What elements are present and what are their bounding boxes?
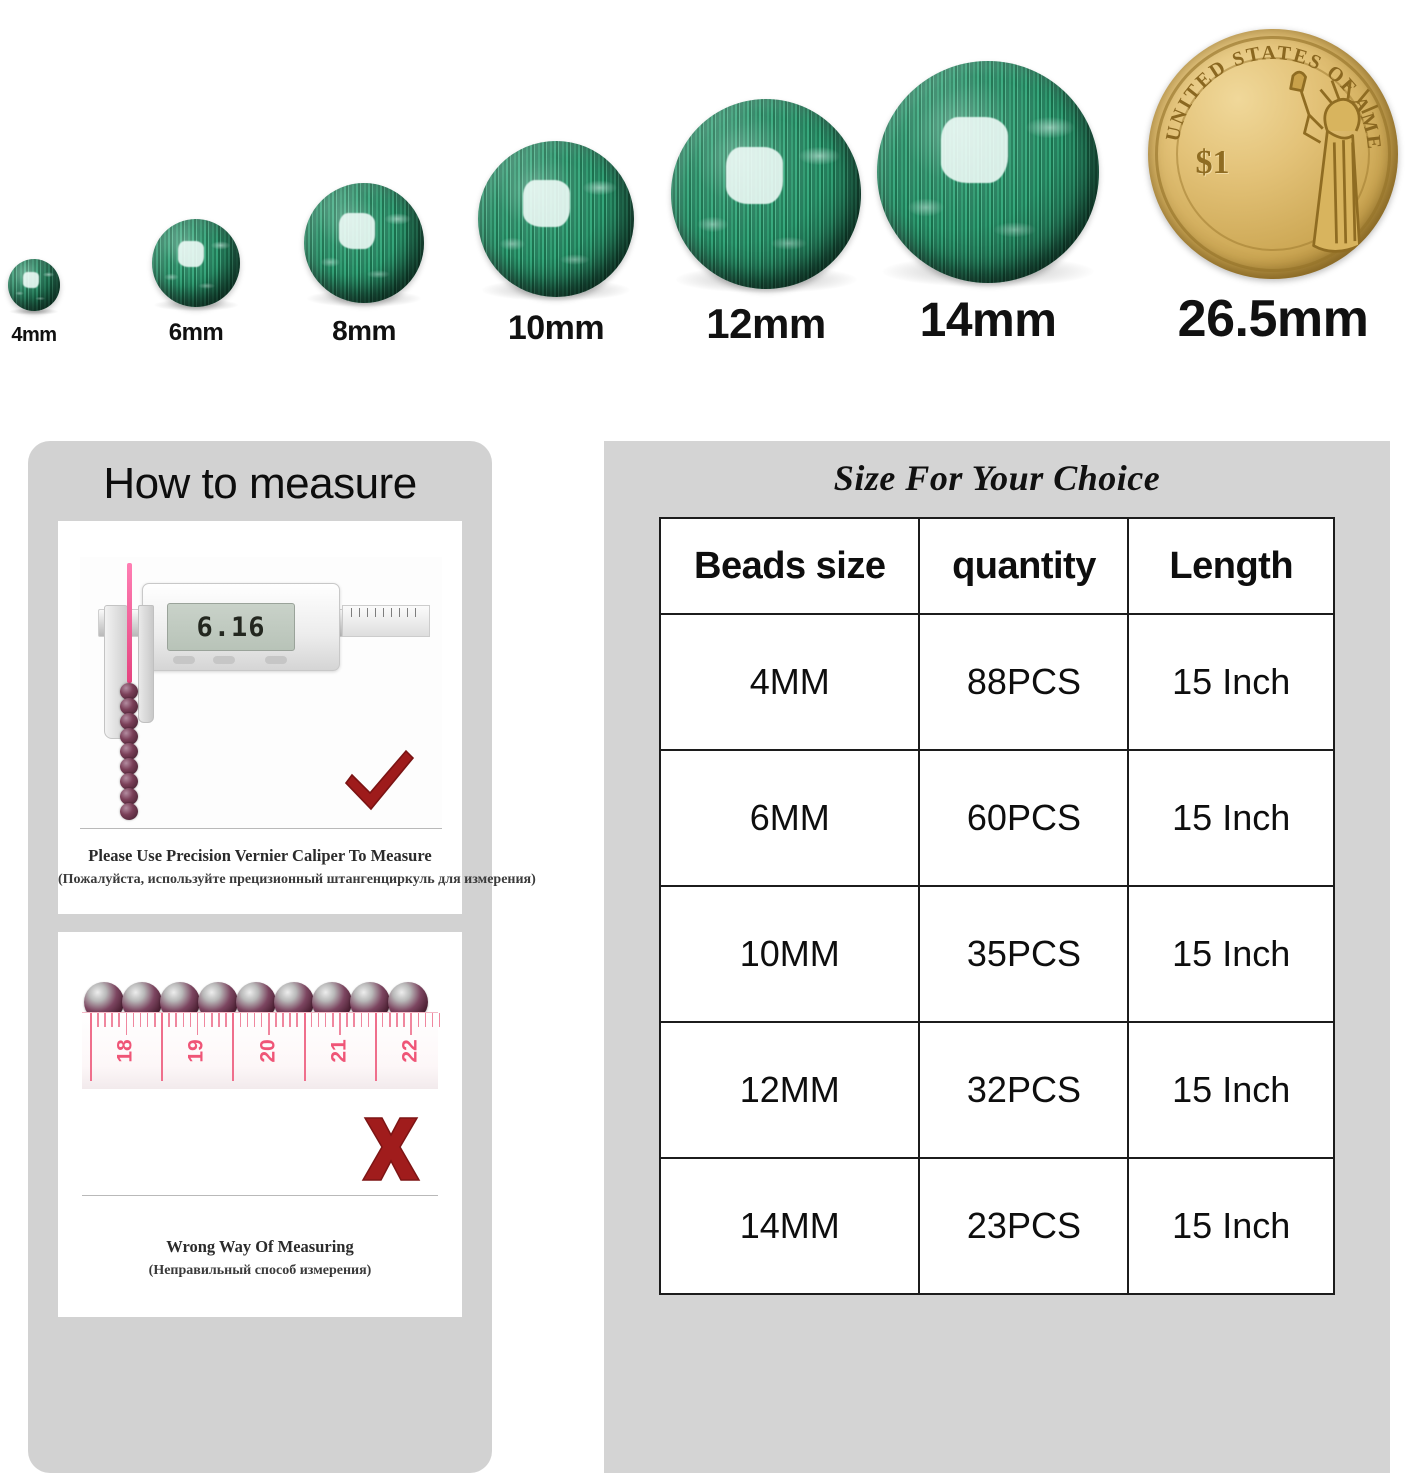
bead-specular-highlight: [23, 272, 39, 288]
coin-face: UNITED STATES OF AMERICA$1: [1148, 29, 1398, 279]
tape-minor-tick: [133, 1013, 135, 1027]
bead-specular-highlight: [726, 147, 783, 204]
lower-section: How to measure 6.16: [0, 345, 1414, 1384]
cell-beads-size: 14MM: [660, 1158, 919, 1294]
tape-minor-tick: [154, 1013, 156, 1027]
caliper-reading: 6.16: [196, 612, 265, 643]
tape-minor-tick: [190, 1013, 192, 1027]
bead-size-label: 12mm: [706, 303, 825, 345]
cell-quantity: 88PCS: [919, 614, 1128, 750]
tape-major-tick: [304, 1013, 306, 1081]
bead-size-comparison-row: 4mm6mm8mm10mm12mm14mmUNITED STATES OF AM…: [0, 0, 1414, 345]
correct-method-panel: 6.16 Please Use Pr: [58, 521, 462, 914]
tape-minor-tick: [175, 1013, 177, 1027]
tape-minor-tick: [332, 1013, 334, 1027]
bead-size-label: 10mm: [508, 311, 604, 345]
tape-minor-tick: [289, 1013, 291, 1027]
coin-denomination: $1: [1196, 144, 1230, 182]
how-to-measure-title: How to measure: [28, 441, 492, 509]
bead-sample-14mm: 14mm: [858, 0, 1118, 345]
table-row: 12MM32PCS15 Inch: [660, 1022, 1334, 1158]
tape-minor-tick: [261, 1013, 263, 1027]
caliper-baseline-divider: [80, 828, 442, 829]
tape-measure-strip: 1819202122: [82, 1012, 438, 1089]
tape-minor-tick: [147, 1013, 149, 1027]
cross-mark-icon: [358, 1116, 424, 1182]
bead-size-label: 8mm: [332, 317, 396, 345]
size-table-title: Size For Your Choice: [604, 441, 1390, 499]
tape-minor-tick: [282, 1013, 284, 1027]
malachite-bead: [304, 183, 424, 303]
malachite-bead: [877, 61, 1099, 283]
cell-quantity: 60PCS: [919, 750, 1128, 886]
tape-measure-number: 21: [327, 1039, 351, 1062]
tape-minor-tick: [118, 1013, 120, 1027]
tape-measure-number: 18: [114, 1039, 138, 1062]
tape-minor-tick: [353, 1013, 355, 1027]
cell-beads-size: 12MM: [660, 1022, 919, 1158]
tape-minor-tick: [197, 1013, 199, 1035]
caliper-depth-scale: [342, 605, 430, 637]
tape-major-tick: [90, 1013, 92, 1081]
tape-minor-tick: [439, 1013, 441, 1027]
statue-of-liberty-icon: [1263, 69, 1378, 264]
tape-measure-number: 19: [185, 1039, 209, 1062]
tape-minor-tick: [268, 1013, 270, 1035]
bead-size-label: 14mm: [920, 297, 1057, 345]
column-header-beads-size: Beads size: [660, 518, 919, 614]
tape-minor-tick: [104, 1013, 106, 1027]
tape-minor-tick: [311, 1013, 313, 1027]
malachite-bead: [8, 259, 60, 311]
caliper-lcd-display: 6.16: [167, 603, 295, 651]
tape-minor-tick: [225, 1013, 227, 1027]
caliper-depth-rod: [127, 563, 132, 683]
correct-caption-en: Please Use Precision Vernier Caliper To …: [58, 846, 462, 866]
cell-length: 15 Inch: [1128, 614, 1334, 750]
size-table-panel: Size For Your Choice Beads size quantity…: [604, 441, 1390, 1473]
malachite-bead: [152, 219, 240, 307]
table-row: 10MM35PCS15 Inch: [660, 886, 1334, 1022]
wrong-method-panel: 1819202122 Wrong Way Of Measuring (Непра…: [58, 932, 462, 1317]
tape-minor-tick: [218, 1013, 220, 1027]
tape-minor-tick: [247, 1013, 249, 1027]
tape-major-tick: [375, 1013, 377, 1081]
tape-minor-tick: [183, 1013, 185, 1027]
column-header-length: Length: [1128, 518, 1334, 614]
bead-sample-12mm: 12mm: [636, 0, 896, 345]
wrong-caption-ru: (Неправильный способ измерения): [58, 1263, 462, 1279]
tape-minor-tick: [346, 1013, 348, 1027]
cell-beads-size: 10MM: [660, 886, 919, 1022]
tape-minor-tick: [140, 1013, 142, 1027]
tape-minor-tick: [275, 1013, 277, 1027]
bead-sample-26-5mm: UNITED STATES OF AMERICA$126.5mm: [1143, 0, 1403, 345]
cell-length: 15 Inch: [1128, 1158, 1334, 1294]
caliper-off-button: [173, 656, 195, 664]
tape-measure-number: 20: [256, 1039, 280, 1062]
tape-minor-tick: [240, 1013, 242, 1027]
tape-minor-tick: [296, 1013, 298, 1027]
tape-minor-tick: [168, 1013, 170, 1027]
tape-minor-tick: [368, 1013, 370, 1027]
tape-minor-tick: [432, 1013, 434, 1027]
table-header-row: Beads size quantity Length: [660, 518, 1334, 614]
cell-beads-size: 6MM: [660, 750, 919, 886]
caliper-on-button: [213, 656, 235, 664]
table-row: 14MM23PCS15 Inch: [660, 1158, 1334, 1294]
tape-minor-tick: [396, 1013, 398, 1027]
tape-minor-tick: [410, 1013, 412, 1035]
bead-specular-highlight: [339, 213, 375, 249]
tape-minor-tick: [97, 1013, 99, 1027]
bead-size-label: 6mm: [169, 321, 224, 345]
tape-minor-tick: [318, 1013, 320, 1027]
size-table: Beads size quantity Length 4MM88PCS15 In…: [659, 517, 1335, 1295]
table-row: 6MM60PCS15 Inch: [660, 750, 1334, 886]
caliper-sliding-jaw: [138, 605, 154, 723]
cell-length: 15 Inch: [1128, 1022, 1334, 1158]
bead-specular-highlight: [523, 180, 570, 227]
bead-specular-highlight: [941, 117, 1008, 184]
tape-minor-tick: [361, 1013, 363, 1027]
tape-measure-photo: 1819202122: [82, 974, 438, 1210]
tape-minor-tick: [339, 1013, 341, 1035]
tape-minor-tick: [418, 1013, 420, 1027]
wrong-caption-en: Wrong Way Of Measuring: [58, 1237, 462, 1257]
tape-minor-tick: [211, 1013, 213, 1027]
malachite-bead: [671, 99, 861, 289]
correct-caption-ru: (Пожалуйста, используйте прецизионный шт…: [58, 872, 462, 888]
measured-bead-strand: [120, 685, 138, 820]
bead-size-label: 4mm: [11, 325, 56, 345]
dollar-coin: UNITED STATES OF AMERICA$1: [1148, 29, 1398, 279]
tape-minor-tick: [389, 1013, 391, 1027]
caliper-body: 6.16: [142, 583, 340, 671]
caliper-zero-button: [265, 656, 287, 664]
caliper-photo: 6.16: [80, 557, 442, 829]
tape-minor-tick: [403, 1013, 405, 1027]
tape-minor-tick: [382, 1013, 384, 1027]
how-to-measure-card: How to measure 6.16: [28, 441, 492, 1473]
tape-measure-number: 22: [399, 1039, 423, 1062]
tape-minor-tick: [126, 1013, 128, 1035]
tape-major-tick: [232, 1013, 234, 1081]
tape-minor-tick: [425, 1013, 427, 1027]
tape-minor-tick: [325, 1013, 327, 1027]
cell-length: 15 Inch: [1128, 886, 1334, 1022]
cell-quantity: 23PCS: [919, 1158, 1128, 1294]
tape-baseline-divider: [82, 1195, 438, 1196]
tape-minor-tick: [254, 1013, 256, 1027]
cell-quantity: 32PCS: [919, 1022, 1128, 1158]
column-header-quantity: quantity: [919, 518, 1128, 614]
malachite-bead: [478, 141, 634, 297]
check-mark-icon: [342, 747, 416, 817]
table-row: 4MM88PCS15 Inch: [660, 614, 1334, 750]
bead-size-label: 26.5mm: [1178, 293, 1369, 345]
cell-beads-size: 4MM: [660, 614, 919, 750]
cell-quantity: 35PCS: [919, 886, 1128, 1022]
cell-length: 15 Inch: [1128, 750, 1334, 886]
tape-major-tick: [161, 1013, 163, 1081]
tape-minor-tick: [204, 1013, 206, 1027]
bead-specular-highlight: [178, 241, 204, 267]
tape-minor-tick: [111, 1013, 113, 1027]
